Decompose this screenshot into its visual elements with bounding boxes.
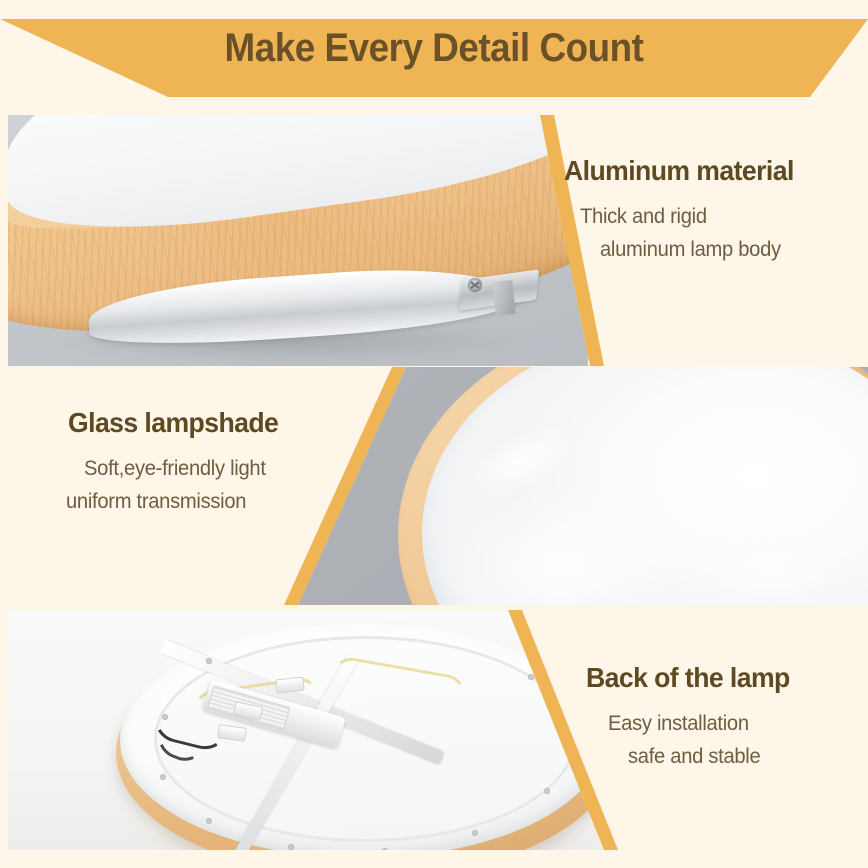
glass-highlight-secondary	[698, 537, 848, 605]
feature-line-1: Easy installation	[608, 708, 865, 741]
feature-line-2: uniform transmission	[66, 486, 385, 519]
feature-heading: Back of the lamp	[586, 662, 862, 694]
feature-text-back-of-the-lamp: Back of the lamp Easy installation safe …	[586, 662, 868, 773]
feature-heading: Glass lampshade	[68, 407, 382, 439]
feature-line-2: aluminum lamp body	[600, 234, 853, 267]
page-title: Make Every Detail Count	[35, 26, 834, 71]
screw-icon	[468, 278, 482, 292]
metal-bracket-tab	[492, 280, 515, 316]
feature-heading: Aluminum material	[564, 155, 849, 187]
feature-image-aluminum-material	[8, 115, 588, 366]
feature-panel-back-of-the-lamp: Back of the lamp Easy installation safe …	[8, 610, 868, 850]
feature-line-2: safe and stable	[628, 741, 866, 774]
feature-text-glass-lampshade: Glass lampshade Soft,eye-friendly light …	[68, 407, 398, 518]
feature-line-1: Thick and rigid	[580, 201, 853, 234]
feature-panel-aluminum-material: Aluminum material Thick and rigid alumin…	[8, 115, 868, 366]
feature-text-aluminum-material: Aluminum material Thick and rigid alumin…	[564, 155, 864, 266]
feature-line-1: Soft,eye-friendly light	[84, 453, 385, 486]
feature-panel-glass-lampshade: Glass lampshade Soft,eye-friendly light …	[8, 367, 868, 605]
infographic-canvas: Make Every Detail Count Aluminum materia…	[0, 0, 868, 868]
